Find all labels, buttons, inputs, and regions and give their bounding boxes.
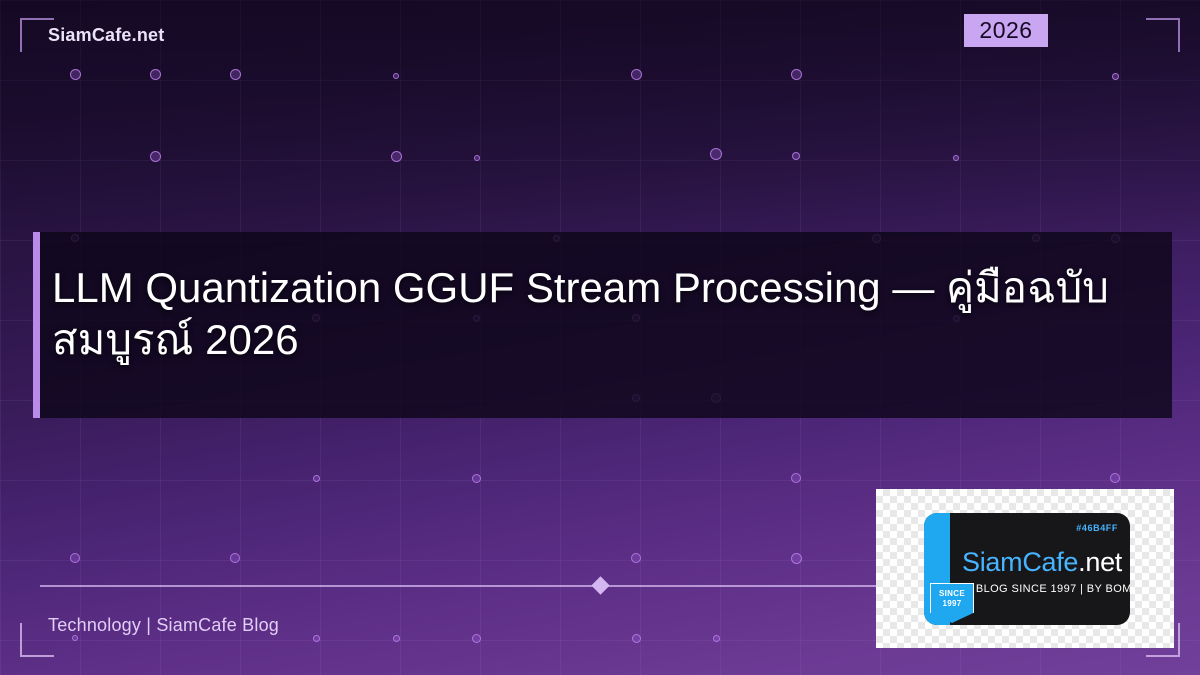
diamond-marker-icon (591, 576, 609, 594)
decorative-dot (313, 475, 320, 482)
cover-canvas: SiamCafe.net 2026 LLM Quantization GGUF … (0, 0, 1200, 675)
decorative-dot (150, 69, 161, 80)
decorative-dot (710, 148, 722, 160)
decorative-dot (393, 73, 399, 79)
decorative-dot (792, 152, 800, 160)
logo-wordmark-tld: .net (1078, 547, 1122, 577)
logo-wordmark-main: SiamCafe (962, 547, 1078, 577)
decorative-dot (791, 553, 802, 564)
brand-name: SiamCafe.net (48, 25, 164, 46)
shield-line-1: SINCE (939, 589, 965, 599)
year-badge: 2026 (964, 14, 1048, 47)
footer-category-label: Technology | SiamCafe Blog (48, 615, 279, 636)
decorative-dot (953, 155, 959, 161)
decorative-dot (631, 553, 641, 563)
corner-bracket-top-right-icon (1146, 18, 1180, 52)
footer-divider (40, 585, 878, 587)
decorative-dot (472, 474, 481, 483)
logo-hex-label: #46B4FF (1076, 523, 1118, 533)
page-title: LLM Quantization GGUF Stream Processing … (52, 262, 1162, 366)
logo-plate: #46B4FF SiamCafe.net IT BLOG SINCE 1997 … (924, 513, 1130, 625)
decorative-dot (632, 634, 641, 643)
decorative-dot (70, 553, 80, 563)
decorative-dot (791, 473, 801, 483)
decorative-dot (230, 69, 241, 80)
decorative-dot (313, 635, 320, 642)
decorative-dot (474, 155, 480, 161)
decorative-dot (791, 69, 802, 80)
logo-wordmark: SiamCafe.net (962, 547, 1122, 578)
decorative-dot (1112, 73, 1119, 80)
logo-card: #46B4FF SiamCafe.net IT BLOG SINCE 1997 … (876, 489, 1174, 648)
decorative-dot (1110, 473, 1120, 483)
decorative-dot (472, 634, 481, 643)
decorative-dot (230, 553, 240, 563)
decorative-dot (393, 635, 400, 642)
logo-tagline: IT BLOG SINCE 1997 | BY BOM (962, 583, 1130, 595)
decorative-dot (631, 69, 642, 80)
decorative-dot (70, 69, 81, 80)
decorative-dot (391, 151, 402, 162)
decorative-dot (713, 635, 720, 642)
shield-line-2: 1997 (943, 599, 962, 609)
decorative-dot (150, 151, 161, 162)
